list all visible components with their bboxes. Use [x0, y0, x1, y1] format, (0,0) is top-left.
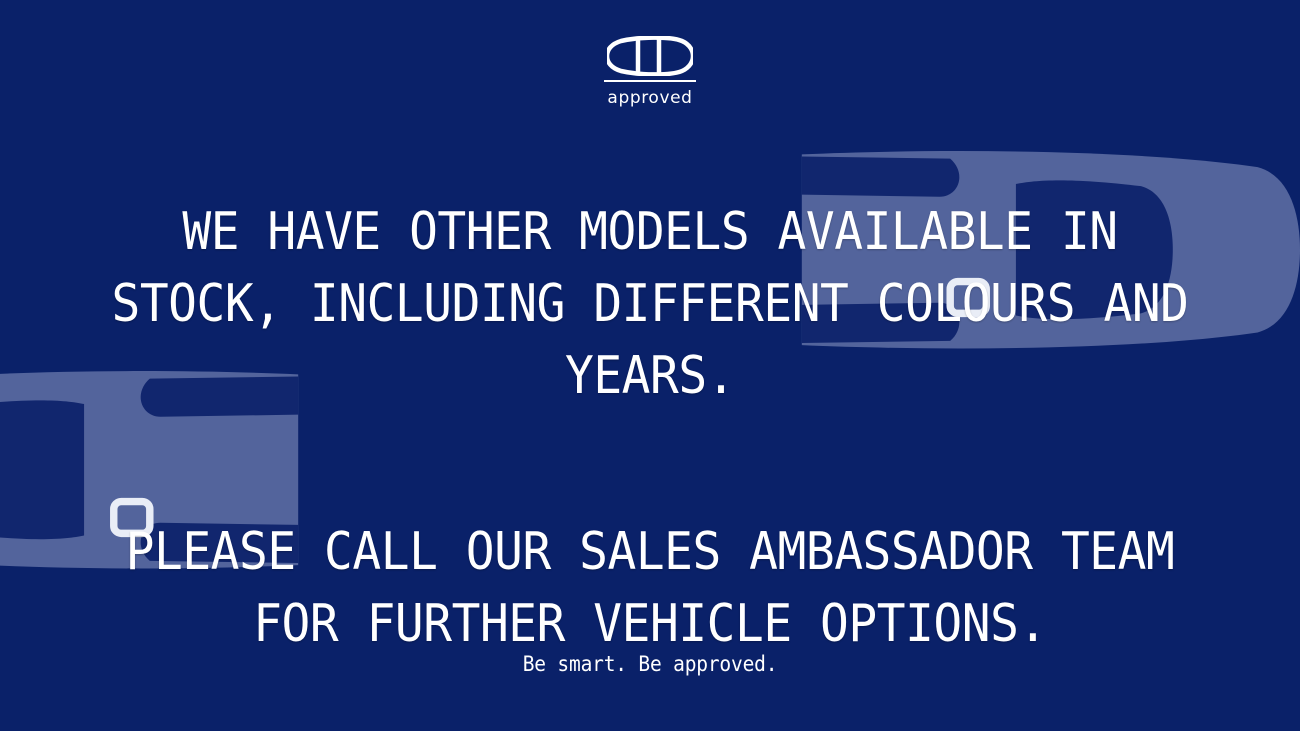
- headline-line-2: STOCK, INCLUDING DIFFERENT COLOURS AND: [52, 268, 1248, 340]
- headline-line-4: PLEASE CALL OUR SALES AMBASSADOR TEAM: [52, 516, 1248, 588]
- promo-slide: approved WE HAVE OTHER MODELS AVAILABLE …: [0, 0, 1300, 731]
- brand-divider: [604, 80, 696, 82]
- brand-wordmark: approved: [607, 88, 692, 108]
- headline-line-1: WE HAVE OTHER MODELS AVAILABLE IN: [52, 196, 1248, 268]
- car-top-view-icon: [607, 36, 693, 76]
- brand-logo: approved: [0, 36, 1300, 108]
- tagline: Be smart. Be approved.: [46, 652, 1255, 676]
- headline-line-3: YEARS.: [52, 340, 1248, 412]
- paragraph-spacer: [0, 412, 1300, 516]
- message-block: WE HAVE OTHER MODELS AVAILABLE IN STOCK,…: [0, 196, 1300, 660]
- headline-line-5: FOR FURTHER VEHICLE OPTIONS.: [52, 588, 1248, 660]
